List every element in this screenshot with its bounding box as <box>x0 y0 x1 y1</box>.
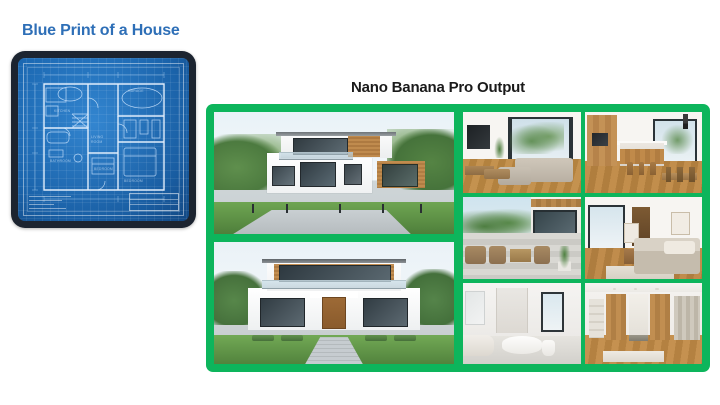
blueprint-legend <box>29 196 71 211</box>
kitchen-dining-image <box>585 112 703 193</box>
svg-text:KITCHEN: KITCHEN <box>54 109 71 113</box>
svg-text:BEDROOM: BEDROOM <box>94 167 113 171</box>
svg-text:LIVING: LIVING <box>91 135 103 139</box>
output-left-column <box>214 112 454 364</box>
output-image-panel <box>206 104 710 372</box>
output-right-grid <box>463 112 702 364</box>
living-room-image <box>463 112 581 193</box>
exterior-angled-view-image <box>214 112 454 234</box>
exterior-front-facade-image <box>214 242 454 364</box>
svg-text:GARAGE: GARAGE <box>128 89 144 93</box>
blueprint-image: KITCHEN LIVING ROOM GARAGE BEDROOM BATHR… <box>18 58 189 221</box>
output-title: Nano Banana Pro Output <box>351 79 525 96</box>
blueprint-title-block <box>129 193 179 211</box>
walk-in-closet-image <box>585 283 703 364</box>
bathroom-image <box>463 283 581 364</box>
blueprint-frame: KITCHEN LIVING ROOM GARAGE BEDROOM BATHR… <box>11 51 196 228</box>
blueprint-title: Blue Print of a House <box>22 22 180 40</box>
svg-text:BATHROOM: BATHROOM <box>50 159 71 163</box>
bedroom-image <box>585 197 703 278</box>
svg-text:BEDROOM: BEDROOM <box>124 179 143 183</box>
svg-text:ROOM: ROOM <box>91 140 102 144</box>
terrace-image <box>463 197 581 278</box>
